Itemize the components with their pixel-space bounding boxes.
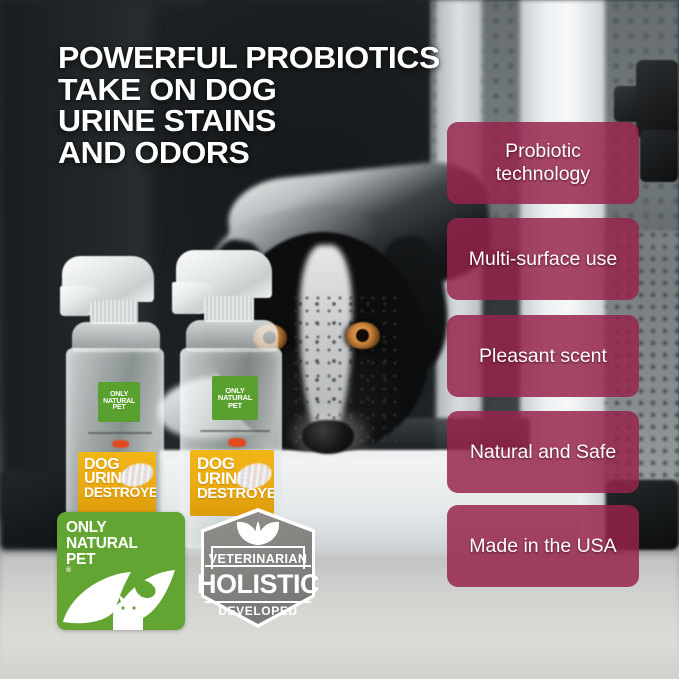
headline-line-2: TAKE ON DOG xyxy=(58,74,501,106)
holistic-badge: VETERINARIAN HOLISTIC DEVELOPED xyxy=(201,508,315,628)
holistic-badge-bottom-label: DEVELOPED xyxy=(215,601,301,620)
bottle1-brand-line3: PET xyxy=(112,404,125,411)
feature-badge-made-in-the-usa[interactable]: Made in the USA xyxy=(447,505,639,587)
bottle-dog-icon-2 xyxy=(228,438,246,447)
feature-badge-probiotic-technology[interactable]: Probiotic technology xyxy=(447,122,639,204)
headline-line-3: URINE STAINS xyxy=(58,105,501,137)
bottle-product-label-2: DOG URINE DESTROYER xyxy=(190,450,274,516)
spray-collar-1 xyxy=(90,300,138,324)
feature-badge-label: Probiotic technology xyxy=(456,140,630,186)
bottle-brand-patch-1: ONLY NATURAL PET xyxy=(98,382,140,422)
headline: POWERFUL PROBIOTICS TAKE ON DOG URINE ST… xyxy=(58,42,501,168)
feature-badge-label: Pleasant scent xyxy=(479,345,607,368)
brand-logo-line-1: ONLY xyxy=(66,520,138,536)
bottle2-brand-line3: PET xyxy=(228,401,242,410)
feature-badge-pleasant-scent[interactable]: Pleasant scent xyxy=(447,315,639,397)
feature-badge-label: Made in the USA xyxy=(469,535,616,558)
product-marketing-image: ONLY NATURAL PET DOG URINE DESTROYER ONL… xyxy=(0,0,679,679)
feature-badge-natural-and-safe[interactable]: Natural and Safe xyxy=(447,411,639,493)
bottle-dog-icon-1 xyxy=(112,440,129,448)
bottle-product-label-1: DOG URINE DESTROYER xyxy=(78,452,156,514)
crate-latch-upper xyxy=(636,60,678,138)
leaf-cat-dog-silhouette-icon xyxy=(57,564,185,630)
holistic-badge-main-label: HOLISTIC xyxy=(205,565,311,603)
dog-nose xyxy=(302,420,354,454)
bottle2-name-line3: DESTROYER xyxy=(197,487,274,500)
bottle-tagline-2 xyxy=(200,430,270,432)
leaf-icon xyxy=(234,516,282,546)
headline-line-4: AND ODORS xyxy=(58,137,501,169)
spray-collar-2 xyxy=(204,296,254,322)
bottle-brand-patch-2: ONLY NATURAL PET xyxy=(212,376,258,420)
brand-logo: ONLY NATURAL PET® xyxy=(57,512,185,630)
feature-badge-multi-surface-use[interactable]: Multi-surface use xyxy=(447,218,639,300)
bottle-tagline-1 xyxy=(88,432,152,434)
dog-pupil-right xyxy=(356,329,369,342)
headline-line-1: POWERFUL PROBIOTICS xyxy=(58,42,501,74)
feature-badge-label: Natural and Safe xyxy=(470,441,616,464)
brand-logo-line-2: NATURAL xyxy=(66,536,138,552)
feature-badge-label: Multi-surface use xyxy=(469,248,617,271)
bottle1-name-line3: DESTROYER xyxy=(84,486,156,498)
crate-latch-lower xyxy=(640,130,678,182)
